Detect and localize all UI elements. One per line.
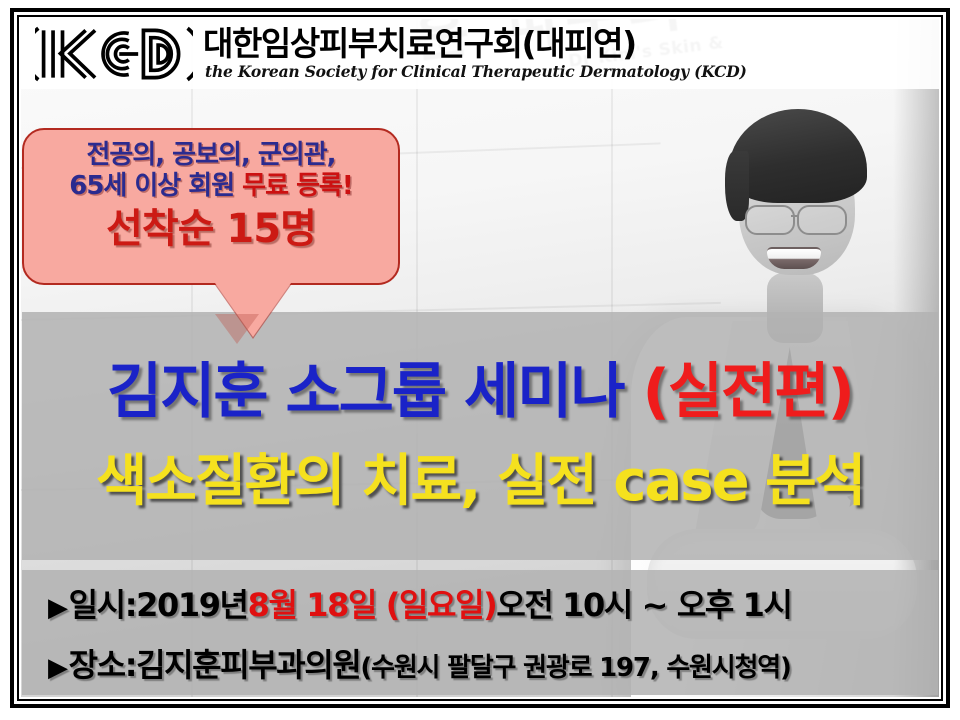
callout-line-2-prefix: 65세 이상 회원 [69,171,242,201]
organization-subtitle: the Korean Society for Clinical Therapeu… [205,63,747,81]
datetime-year: 2019년 [136,580,248,626]
datetime-time: 오전 10시 ~ 오후 1시 [496,580,791,626]
callout-tail-shade [215,314,259,344]
seminar-title-main: 김지훈 소그룹 세미나 [107,357,642,427]
bullet-arrow-icon: ▶ [48,653,67,683]
bullet-arrow-icon: ▶ [48,593,67,623]
doctor-glasses-bridge [791,215,799,217]
datetime-label: 일시: [69,580,136,626]
header-text-group: 대한임상피부치료연구회(대피연) the Korean Society for … [203,27,747,80]
doctor-glasses-right [797,205,847,235]
doctor-hair [729,109,867,203]
venue-name: 김지훈피부과의원 [136,640,360,686]
seminar-title-suffix: (실전편) [643,357,853,427]
kcd-logo-icon [35,23,193,85]
callout-capacity: 선착순 15명 [24,207,398,251]
seminar-title: 김지훈 소그룹 세미나 (실전편) [107,359,853,425]
registration-callout: 전공의, 공보의, 군의관, 65세 이상 회원 무료 등록! 선착순 15명 [22,128,400,285]
poster-header: 대한임상피부치료연구회(대피연) the Korean Society for … [21,19,939,89]
callout-line-1: 전공의, 공보의, 군의관, [24,140,398,171]
seminar-subtitle: 색소질환의 치료, 실전 case 분석 [96,451,864,513]
seminar-poster: 훈 피부과 Dr Kim's Skin & [0,0,960,720]
venue-address: (수원시 팔달구 권광로 197, 수원시청역) [360,647,790,684]
datetime-date: 8월 18일 (일요일) [248,580,497,626]
info-band: ▶일시: 2019년 8월 18일 (일요일) 오전 10시 ~ 오후 1시 ▶… [22,570,938,695]
venue-label: 장소: [69,640,136,686]
doctor-glasses-left [745,205,795,235]
doctor-smile [767,247,821,269]
title-band: 김지훈 소그룹 세미나 (실전편) 색소질환의 치료, 실전 case 분석 [22,312,938,560]
venue-row: ▶장소: 김지훈피부과의원 (수원시 팔달구 권광로 197, 수원시청역) [48,640,938,686]
callout-line-2: 65세 이상 회원 무료 등록! [24,171,398,202]
datetime-row: ▶일시: 2019년 8월 18일 (일요일) 오전 10시 ~ 오후 1시 [48,580,938,626]
callout-free-registration: 무료 등록! [242,171,353,201]
organization-name: 대한임상피부치료연구회(대피연) [203,27,747,61]
